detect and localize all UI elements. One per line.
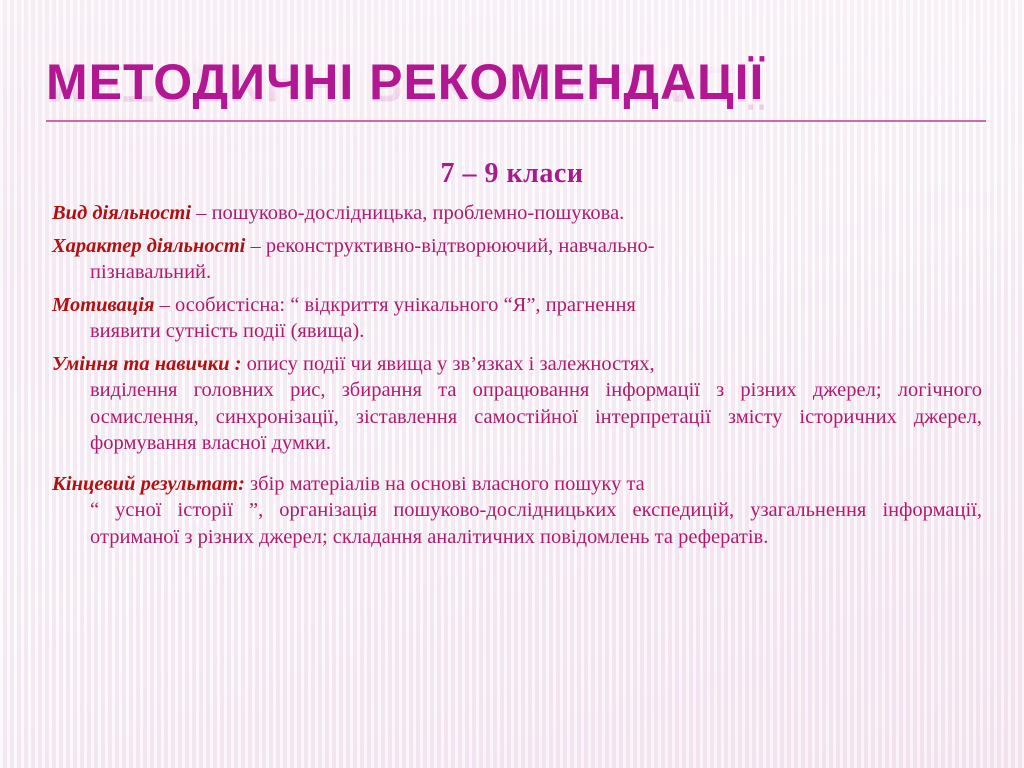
- page-title: Методичні рекомендації: [46, 54, 986, 110]
- paragraph-lead: Вид діяльності: [52, 202, 191, 224]
- paragraph-motivation: Мотивація – особистісна: “ відкриття уні…: [52, 292, 982, 345]
- paragraph-continuation: пізнавальний.: [52, 259, 982, 286]
- title-block: Методичні рекомендації Методичні рекомен…: [46, 54, 986, 146]
- paragraph-continuation: виявити сутність події (явища).: [52, 318, 982, 345]
- paragraph-activity-character: Характер діяльності – реконструктивно-ві…: [52, 233, 982, 286]
- paragraph-continuation: виділення головних рис, збирання та опра…: [52, 377, 982, 457]
- slide: Методичні рекомендації Методичні рекомен…: [0, 0, 1024, 768]
- subtitle: 7 – 9 класи: [0, 158, 1024, 190]
- content-body: Вид діяльності – пошуково-дослідницька, …: [52, 200, 982, 556]
- paragraph-lead: Мотивація: [52, 294, 154, 316]
- paragraph-skills: Уміння та навички : опису події чи явища…: [52, 351, 982, 457]
- paragraph-text: – особистісна: “ відкриття унікального “…: [154, 294, 635, 316]
- paragraph-continuation: “ усної історії ”, організація пошуково-…: [52, 497, 982, 550]
- paragraph-text: збір матеріалів на основі власного пошук…: [245, 473, 645, 495]
- paragraph-lead: Характер діяльності: [52, 235, 245, 257]
- paragraph-final-result: Кінцевий результат: збір матеріалів на о…: [52, 471, 982, 551]
- paragraph-activity-type: Вид діяльності – пошуково-дослідницька, …: [52, 200, 982, 227]
- title-divider: [46, 120, 986, 122]
- paragraph-lead: Кінцевий результат:: [52, 473, 245, 495]
- paragraph-text: – пошуково-дослідницька, проблемно-пошук…: [191, 202, 624, 224]
- paragraph-text: – реконструктивно-відтворюючий, навчальн…: [245, 235, 654, 257]
- paragraph-text: опису події чи явища у зв’язках і залежн…: [241, 353, 654, 375]
- paragraph-lead: Уміння та навички :: [52, 353, 241, 375]
